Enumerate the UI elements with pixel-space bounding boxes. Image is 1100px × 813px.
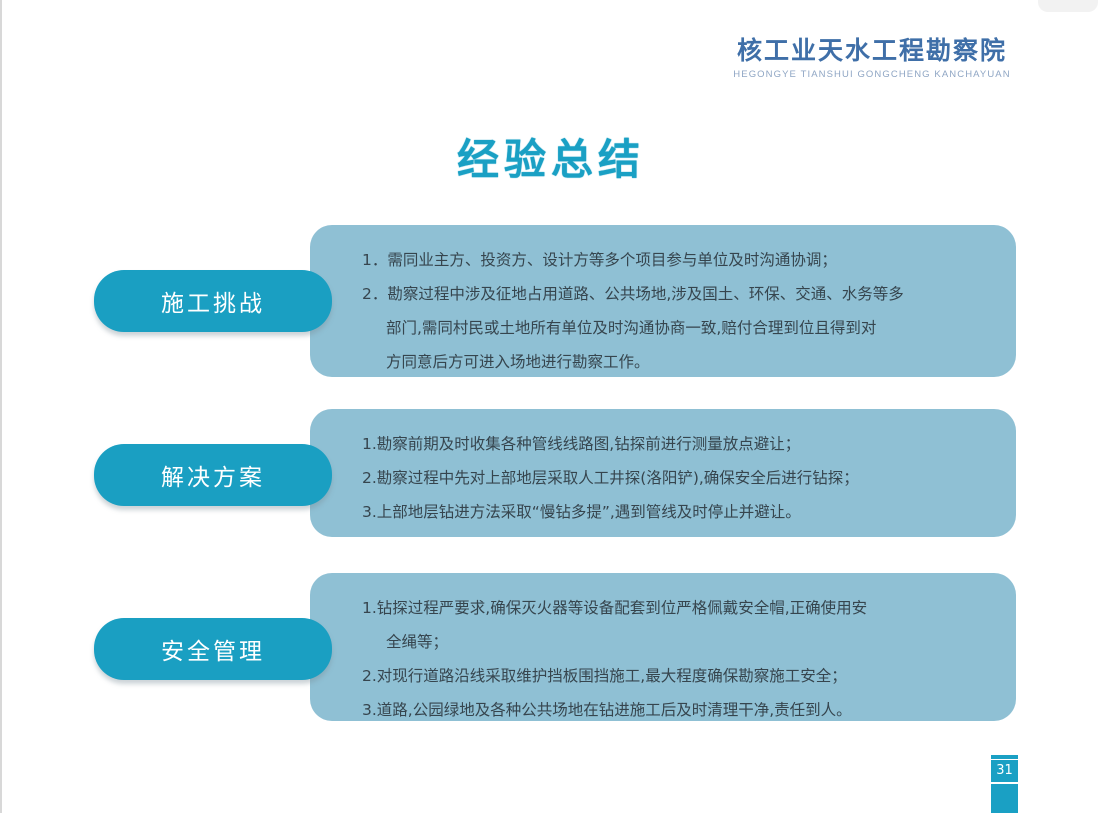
section-content-panel-1: 1．需同业主方、投资方、设计方等多个项目参与单位及时沟通协调； 2．勘察过程中涉…: [310, 225, 1016, 377]
pill-label: 解决方案: [161, 458, 265, 492]
section-content-panel-2: 1.勘察前期及时收集各种管线线路图,钻探前进行测量放点避让； 2.勘察过程中先对…: [310, 409, 1016, 537]
section-line: 2．勘察过程中涉及征地占用道路、公共场地,涉及国土、环保、交通、水务等多: [362, 277, 988, 311]
page-number: 31: [991, 760, 1018, 782]
section-line: 1.勘察前期及时收集各种管线线路图,钻探前进行测量放点避让；: [362, 427, 988, 461]
slide-canvas: 核工业天水工程勘察院 HEGONGYE TIANSHUI GONGCHENG K…: [0, 0, 1100, 813]
section-line: 3.上部地层钻进方法采取“慢钻多提”,遇到管线及时停止并避让。: [362, 495, 988, 529]
badge-bar-top: [991, 755, 1018, 759]
section-line: 全绳等；: [362, 625, 988, 659]
section-line: 方同意后方可进入场地进行勘察工作。: [362, 345, 988, 379]
section-line: 3.道路,公园绿地及各种公共场地在钻进施工后及时清理干净,责任到人。: [362, 693, 988, 727]
logo-chinese-name: 核工业天水工程勘察院: [722, 38, 1022, 66]
page-title: 经验总结: [2, 126, 1100, 187]
corner-decoration: [1038, 0, 1098, 12]
section-line: 2.勘察过程中先对上部地层采取人工井探(洛阳铲),确保安全后进行钻探；: [362, 461, 988, 495]
section-line: 部门,需同村民或土地所有单位及时沟通协商一致,赔付合理到位且得到对: [362, 311, 988, 345]
badge-bar-bottom: [991, 784, 1018, 813]
pill-label: 安全管理: [161, 632, 265, 666]
section-content-panel-3: 1.钻探过程严要求,确保灭火器等设备配套到位严格佩戴安全帽,正确使用安 全绳等；…: [310, 573, 1016, 721]
section-label-pill-safety-management[interactable]: 安全管理: [94, 618, 332, 680]
pill-label: 施工挑战: [161, 284, 265, 318]
logo-pinyin-name: HEGONGYE TIANSHUI GONGCHENG KANCHAYUAN: [722, 69, 1022, 79]
section-line: 1．需同业主方、投资方、设计方等多个项目参与单位及时沟通协调；: [362, 243, 988, 277]
company-logo: 核工业天水工程勘察院 HEGONGYE TIANSHUI GONGCHENG K…: [722, 38, 1022, 80]
section-line: 2.对现行道路沿线采取维护挡板围挡施工,最大程度确保勘察施工安全；: [362, 659, 988, 693]
section-line: 1.钻探过程严要求,确保灭火器等设备配套到位严格佩戴安全帽,正确使用安: [362, 591, 988, 625]
section-label-pill-solutions[interactable]: 解决方案: [94, 444, 332, 506]
section-label-pill-construction-challenges[interactable]: 施工挑战: [94, 270, 332, 332]
page-number-badge: 31: [991, 755, 1018, 813]
